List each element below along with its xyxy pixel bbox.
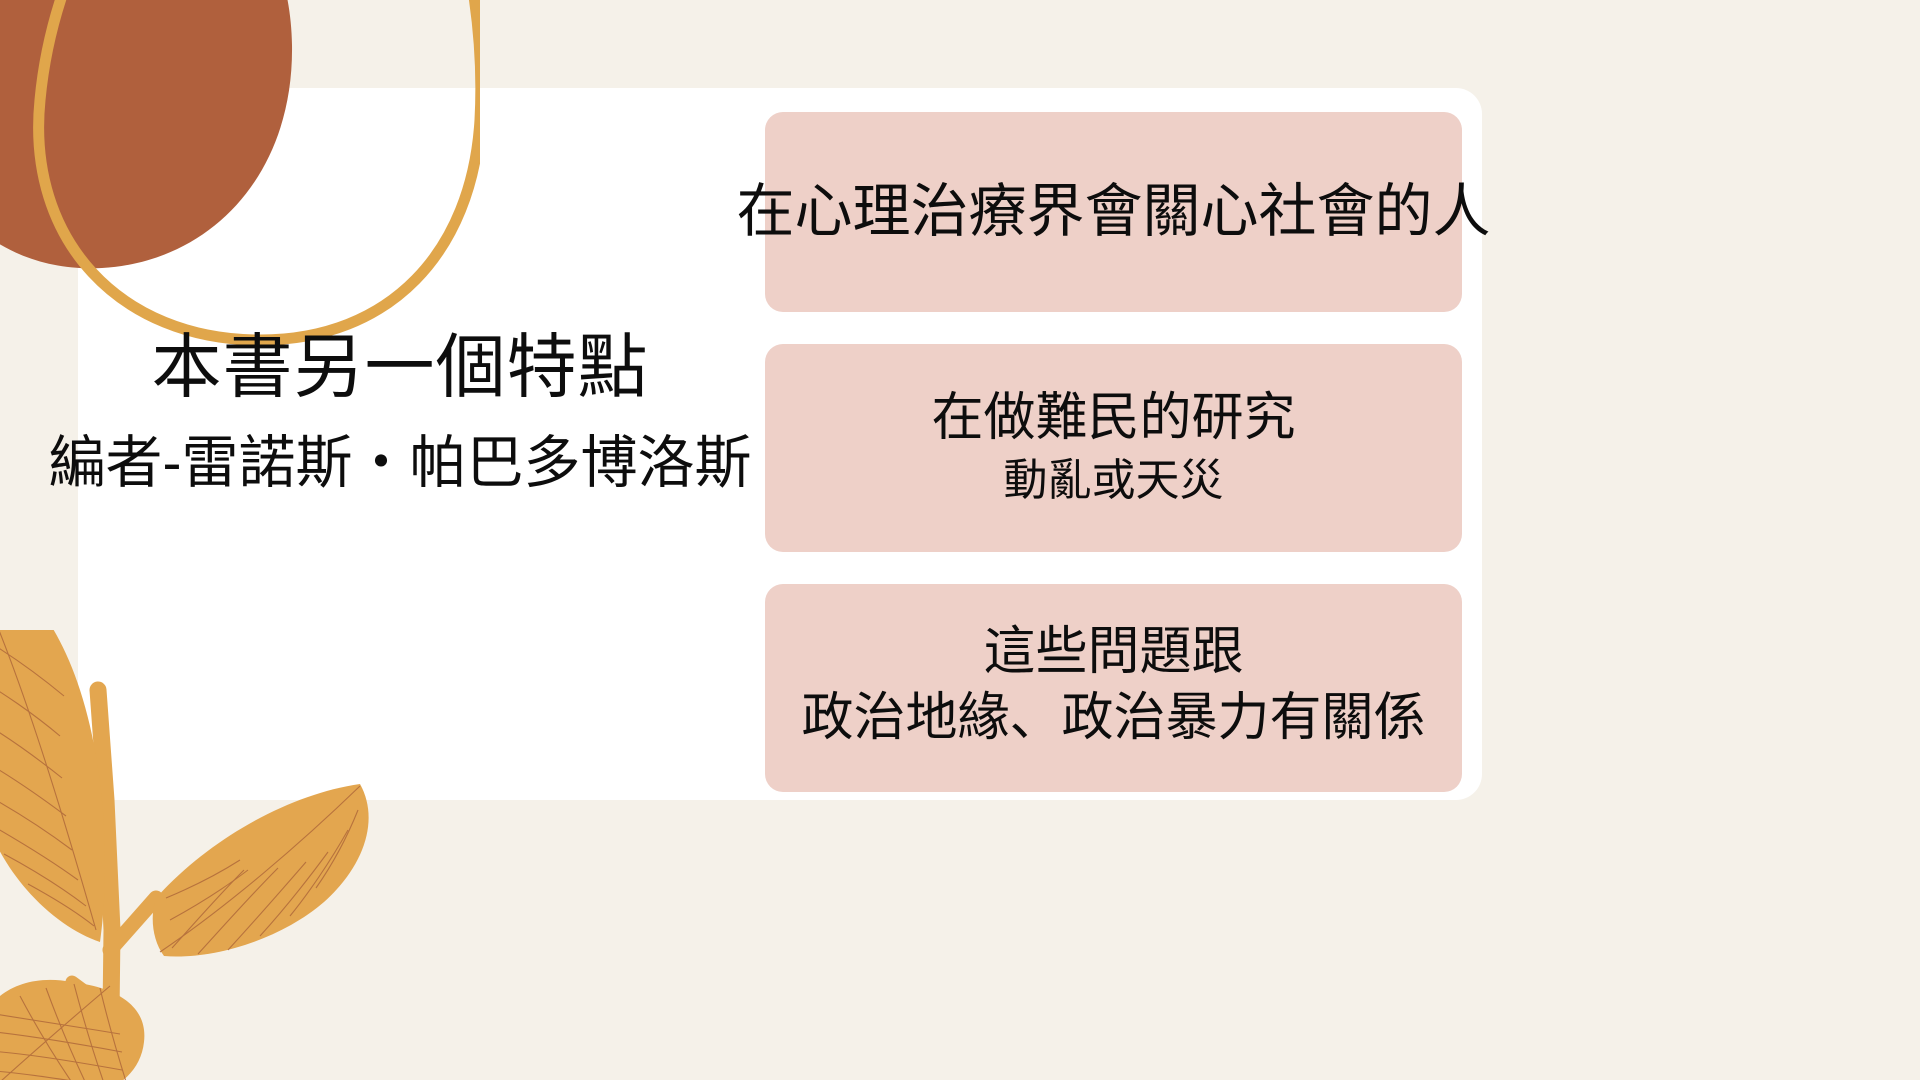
callout-box-1[interactable]: 在心理治療界會關心社會的人 [765, 112, 1462, 312]
callout-line: 在心理治療界會關心社會的人 [737, 180, 1491, 245]
callout-box-2[interactable]: 在做難民的研究 動亂或天災 [765, 344, 1462, 552]
callout-line: 在做難民的研究 [931, 388, 1295, 448]
callout-line: 動亂或天災 [1004, 455, 1224, 508]
page-subtitle: 編者-雷諾斯・帕巴多博洛斯 [40, 432, 760, 495]
page-title: 本書另一個特點 [40, 330, 760, 406]
slide-canvas: 本書另一個特點 編者-雷諾斯・帕巴多博洛斯 在心理治療界會關心社會的人 在做難民… [0, 0, 1920, 1080]
callout-line: 這些問題跟 [983, 622, 1243, 682]
left-text-column: 本書另一個特點 編者-雷諾斯・帕巴多博洛斯 [40, 330, 760, 494]
callout-line: 政治地緣、政治暴力有關係 [801, 688, 1425, 748]
callout-list: 在心理治療界會關心社會的人 在做難民的研究 動亂或天災 這些問題跟 政治地緣、政… [765, 112, 1462, 792]
callout-box-3[interactable]: 這些問題跟 政治地緣、政治暴力有關係 [765, 584, 1462, 792]
